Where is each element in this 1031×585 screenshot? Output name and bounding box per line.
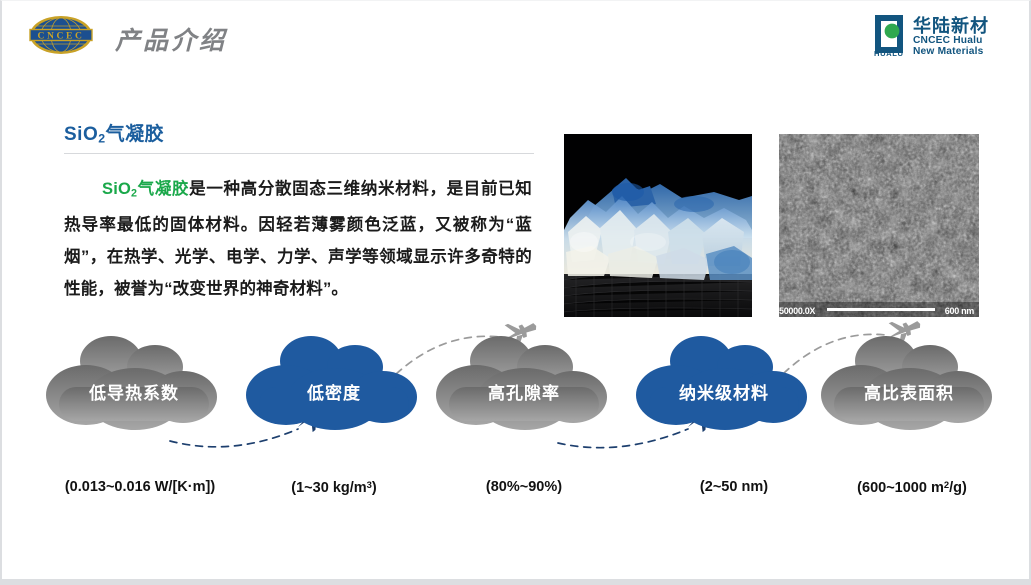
cloud-caption-5: (600~1000 m2/g) bbox=[797, 479, 1027, 496]
caption-3-value: 80%~90% bbox=[491, 479, 558, 495]
slide-header: CNCEC 产品介绍 HUALU 华陆新材 CNCEC Hualu New Ma… bbox=[2, 1, 1031, 65]
cloud-item-4[interactable]: 纳米级材料 bbox=[629, 331, 819, 435]
caption-2-unit: kg/m bbox=[333, 480, 367, 496]
hualu-en-line1: CNCEC Hualu bbox=[913, 35, 983, 46]
sem-micrograph: 50000.0X 600 nm bbox=[779, 134, 979, 317]
cloud-shape-blue-1 bbox=[239, 331, 429, 435]
hualu-logo: HUALU 华陆新材 CNCEC Hualu New Materials bbox=[867, 11, 1019, 57]
cloud-shape-gray-2 bbox=[429, 331, 619, 435]
hualu-en-line2: New Materials bbox=[913, 46, 984, 57]
body-paragraph: SiO2气凝胶是一种高分散固态三维纳米材料，是目前已知热导率最低的固体材料。因轻… bbox=[64, 173, 532, 305]
cloud-row: 低导热系数 低密度 bbox=[2, 331, 1031, 451]
section-heading: SiO2气凝胶 bbox=[64, 119, 534, 154]
caption-4-value: 2~50 bbox=[705, 479, 738, 495]
cloud-item-2[interactable]: 低密度 bbox=[239, 331, 429, 435]
section-heading-prefix: SiO bbox=[64, 124, 98, 145]
cloud-shape-blue-2 bbox=[629, 331, 819, 435]
caption-1-value: 0.013~0.016 bbox=[70, 479, 151, 495]
cloud-item-1[interactable]: 低导热系数 bbox=[39, 331, 229, 435]
cloud-item-3[interactable]: 高孔隙率 bbox=[429, 331, 619, 435]
body-highlight-prefix: SiO bbox=[102, 180, 131, 198]
hualu-cn-name: 华陆新材 bbox=[913, 15, 989, 37]
cloud-shape-gray-3 bbox=[814, 331, 1004, 435]
section-heading-text: SiO2气凝胶 bbox=[64, 119, 534, 146]
cloud-caption-3: (80%~90%) bbox=[409, 479, 639, 495]
caption-2-value: 1~30 bbox=[296, 480, 329, 496]
cncec-globe-logo: CNCEC bbox=[22, 14, 100, 56]
cloud-shape-gray-1 bbox=[39, 331, 229, 435]
section-heading-subscript: 2 bbox=[98, 132, 105, 146]
slide-canvas: CNCEC 产品介绍 HUALU 华陆新材 CNCEC Hualu New Ma… bbox=[0, 0, 1031, 585]
section-heading-suffix: 气凝胶 bbox=[106, 124, 165, 145]
section-divider bbox=[64, 153, 534, 154]
cloud-item-5[interactable]: 高比表面积 bbox=[814, 331, 1004, 435]
body-highlight: SiO2气凝胶 bbox=[102, 180, 189, 198]
cncec-logo-text: CNCEC bbox=[37, 30, 84, 41]
caption-5-value: 600~1000 bbox=[862, 480, 927, 496]
body-highlight-suffix: 气凝胶 bbox=[137, 180, 189, 198]
caption-1-unit: W/[K·m] bbox=[155, 479, 211, 495]
caption-4-unit: nm bbox=[741, 479, 763, 495]
caption-5-unit: m bbox=[931, 480, 944, 496]
caption-2-exponent: 3 bbox=[367, 479, 372, 490]
hualu-mark-text: HUALU bbox=[874, 49, 904, 57]
page-title: 产品介绍 bbox=[115, 21, 227, 57]
caption-5-unit-tail: /g bbox=[949, 480, 962, 496]
aerogel-photo bbox=[564, 134, 752, 317]
